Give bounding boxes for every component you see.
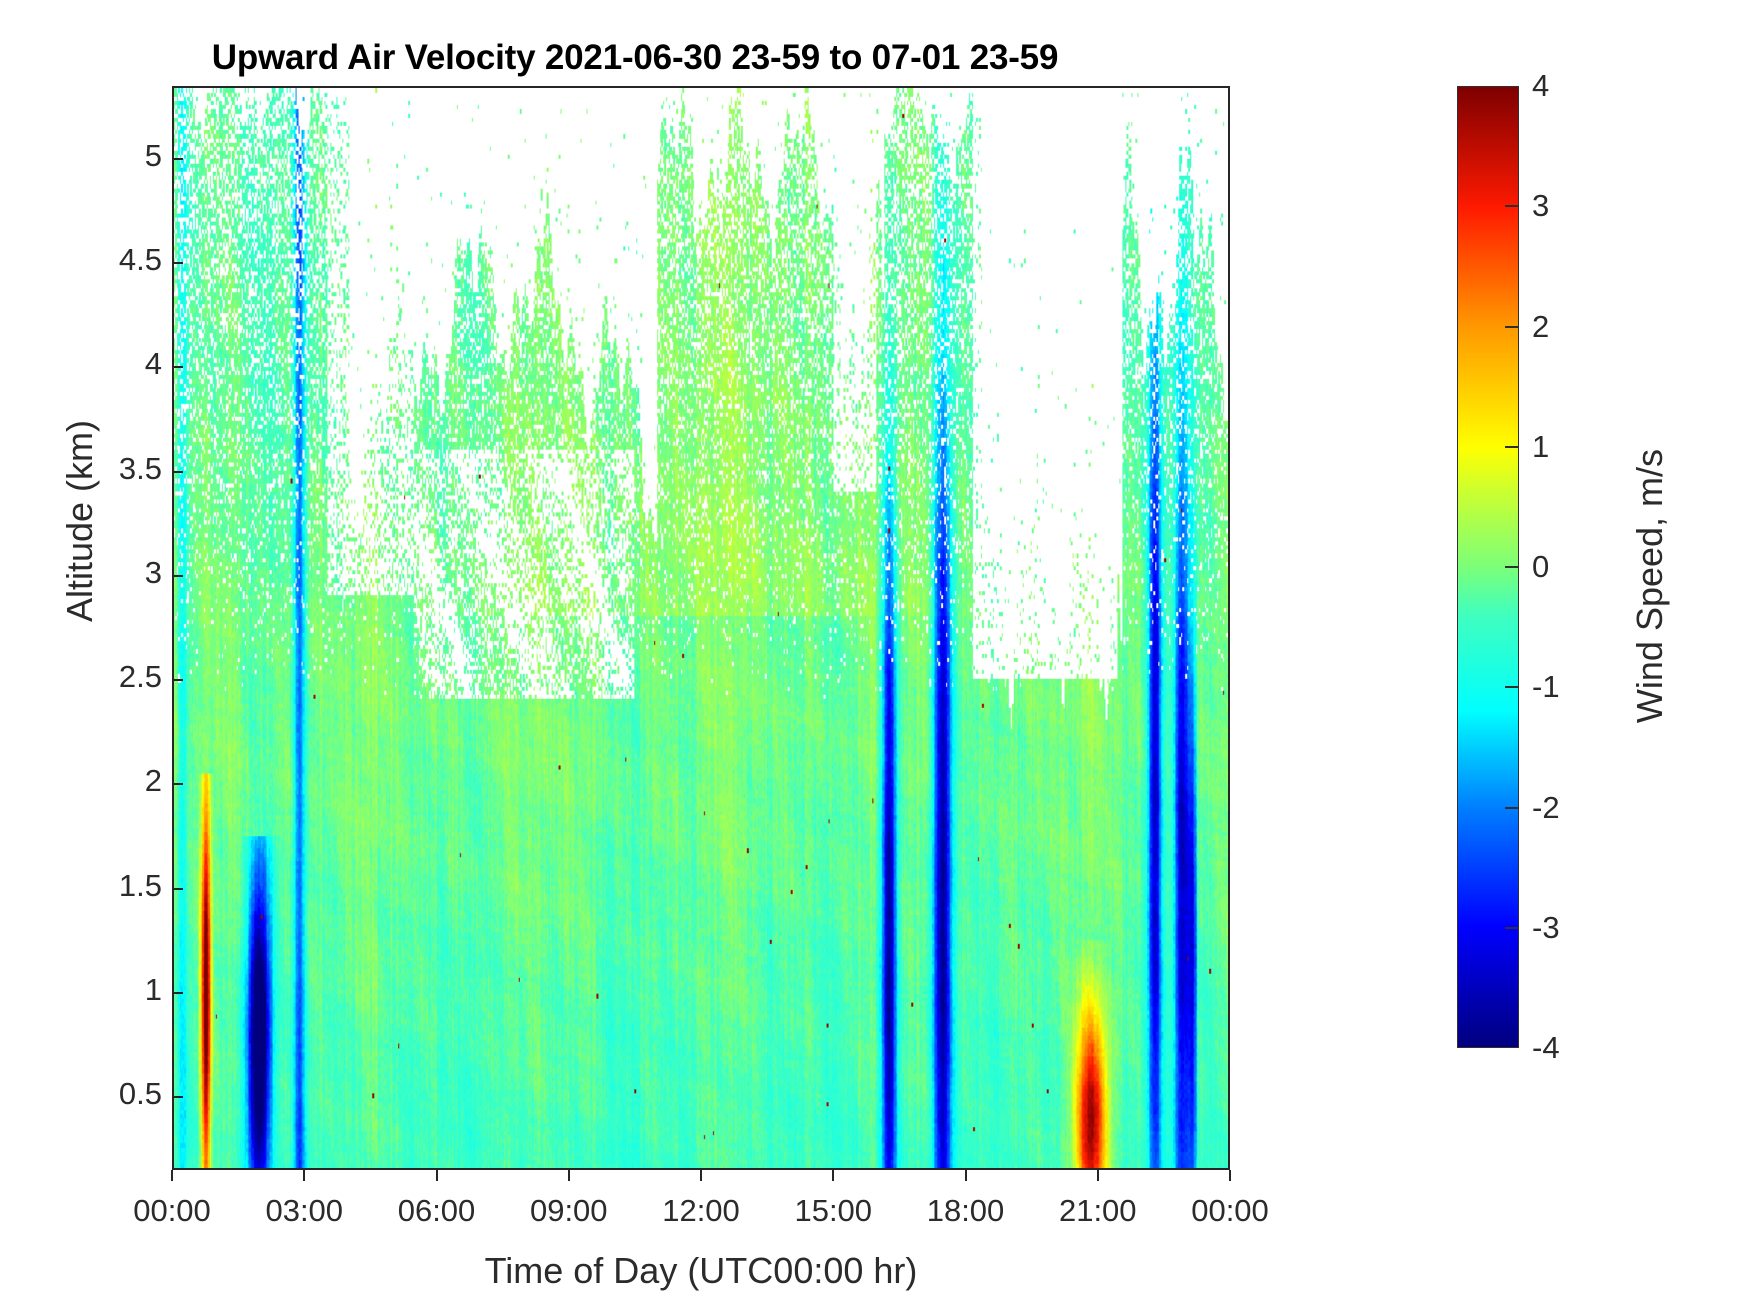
colorbar-tick-mark [1505, 927, 1518, 929]
y-tick-label: 2.5 [119, 659, 162, 695]
x-tick-mark [568, 1170, 570, 1181]
y-tick-label: 3 [145, 555, 162, 591]
x-tick-mark [832, 1170, 834, 1181]
colorbar-tick-mark [1505, 566, 1518, 568]
colorbar-tick-label: 2 [1532, 309, 1549, 345]
page-title: Upward Air Velocity 2021-06-30 23-59 to … [0, 38, 1270, 78]
colorbar-tick-label: -2 [1532, 790, 1560, 826]
y-tick-label: 5 [145, 138, 162, 174]
colorbar-tick-label: -1 [1532, 669, 1560, 705]
y-tick-mark [172, 992, 183, 994]
heatmap-canvas [174, 88, 1228, 1168]
colorbar-label: Wind Speed, m/s [1629, 386, 1671, 786]
y-axis-label: Altitude (km) [59, 321, 101, 721]
y-tick-label: 2 [145, 763, 162, 799]
x-tick-mark [1097, 1170, 1099, 1181]
colorbar-tick-label: -3 [1532, 910, 1560, 946]
y-tick-mark [172, 158, 183, 160]
x-tick-label: 18:00 [927, 1193, 1005, 1229]
colorbar-tick-label: -4 [1532, 1030, 1560, 1066]
colorbar-tick-mark [1505, 446, 1518, 448]
y-tick-mark [172, 471, 183, 473]
x-tick-label: 06:00 [398, 1193, 476, 1229]
colorbar-tick-mark [1505, 205, 1518, 207]
y-tick-label: 1.5 [119, 868, 162, 904]
x-tick-mark [700, 1170, 702, 1181]
y-tick-mark [172, 1096, 183, 1098]
y-tick-mark [172, 366, 183, 368]
y-tick-label: 1 [145, 972, 162, 1008]
x-tick-label: 00:00 [1191, 1193, 1269, 1229]
colorbar-tick-label: 3 [1532, 188, 1549, 224]
x-tick-label: 15:00 [794, 1193, 872, 1229]
colorbar-tick-label: 0 [1532, 549, 1549, 585]
x-axis-label: Time of Day (UTC00:00 hr) [172, 1250, 1230, 1292]
x-tick-label: 03:00 [265, 1193, 343, 1229]
x-tick-mark [436, 1170, 438, 1181]
y-tick-mark [172, 575, 183, 577]
y-tick-mark [172, 888, 183, 890]
x-tick-label: 00:00 [133, 1193, 211, 1229]
colorbar-tick-label: 4 [1532, 68, 1549, 104]
x-tick-label: 12:00 [662, 1193, 740, 1229]
colorbar-tick-mark [1505, 326, 1518, 328]
y-tick-label: 4.5 [119, 242, 162, 278]
y-tick-label: 4 [145, 346, 162, 382]
x-tick-mark [303, 1170, 305, 1181]
y-tick-label: 3.5 [119, 451, 162, 487]
x-tick-mark [171, 1170, 173, 1181]
y-tick-mark [172, 783, 183, 785]
y-tick-mark [172, 262, 183, 264]
y-tick-label: 0.5 [119, 1076, 162, 1112]
x-tick-mark [965, 1170, 967, 1181]
colorbar-tick-label: 1 [1532, 429, 1549, 465]
plot-axes-area [172, 86, 1230, 1170]
colorbar-tick-mark [1505, 686, 1518, 688]
x-tick-mark [1229, 1170, 1231, 1181]
colorbar-tick-mark [1505, 807, 1518, 809]
y-tick-mark [172, 679, 183, 681]
figure-root: Upward Air Velocity 2021-06-30 23-59 to … [0, 0, 1750, 1313]
x-tick-label: 21:00 [1059, 1193, 1137, 1229]
x-tick-label: 09:00 [530, 1193, 608, 1229]
